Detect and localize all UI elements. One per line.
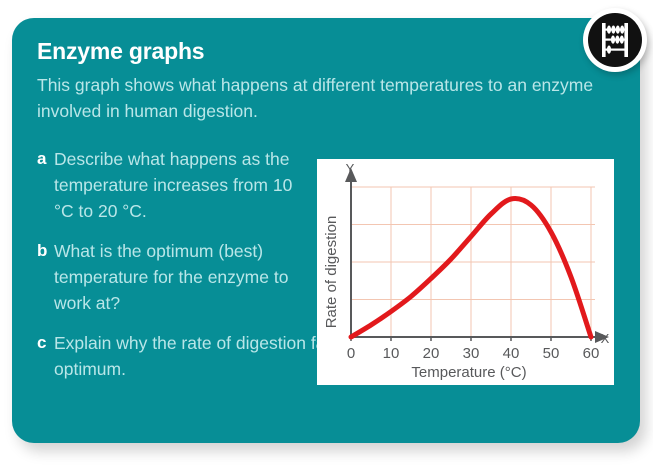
x-tick-label: 10 [383, 345, 400, 362]
enzyme-graphs-card: Enzyme graphs This graph shows what happ… [12, 18, 640, 443]
intro-paragraph: This graph shows what happens at differe… [37, 72, 597, 124]
question-list: a Describe what happens as the temperatu… [37, 146, 305, 396]
x-axis-label: Temperature (°C) [411, 364, 526, 381]
x-tick-label: 50 [543, 345, 560, 362]
question-marker-c: c [37, 330, 54, 382]
y-axis-letter: Y [346, 161, 355, 176]
x-tick-labels: 0102030405060 [347, 345, 600, 362]
question-text-a: Describe what happens as the temperature… [54, 146, 305, 224]
list-item: a Describe what happens as the temperatu… [37, 146, 305, 224]
page-title: Enzyme graphs [37, 38, 204, 65]
y-axis-label: Rate of digestion [323, 216, 340, 329]
x-tick-label: 40 [503, 345, 520, 362]
x-tick-label: 0 [347, 345, 355, 362]
chart-panel: 0102030405060 Y X Rate of digestion Temp… [317, 159, 614, 385]
enzyme-rate-chart: 0102030405060 Y X Rate of digestion Temp… [317, 159, 614, 385]
list-item: b What is the optimum (best) temperature… [37, 238, 305, 316]
abacus-icon [588, 13, 642, 67]
x-axis-letter: X [601, 331, 610, 346]
question-text-b: What is the optimum (best) temperature f… [54, 238, 305, 316]
screenshot-root: Enzyme graphs This graph shows what happ… [0, 0, 653, 467]
question-marker-a: a [37, 146, 54, 224]
x-tick-label: 30 [463, 345, 480, 362]
x-tick-label: 60 [583, 345, 600, 362]
question-marker-b: b [37, 238, 54, 316]
topic-badge [583, 8, 647, 72]
x-tick-label: 20 [423, 345, 440, 362]
